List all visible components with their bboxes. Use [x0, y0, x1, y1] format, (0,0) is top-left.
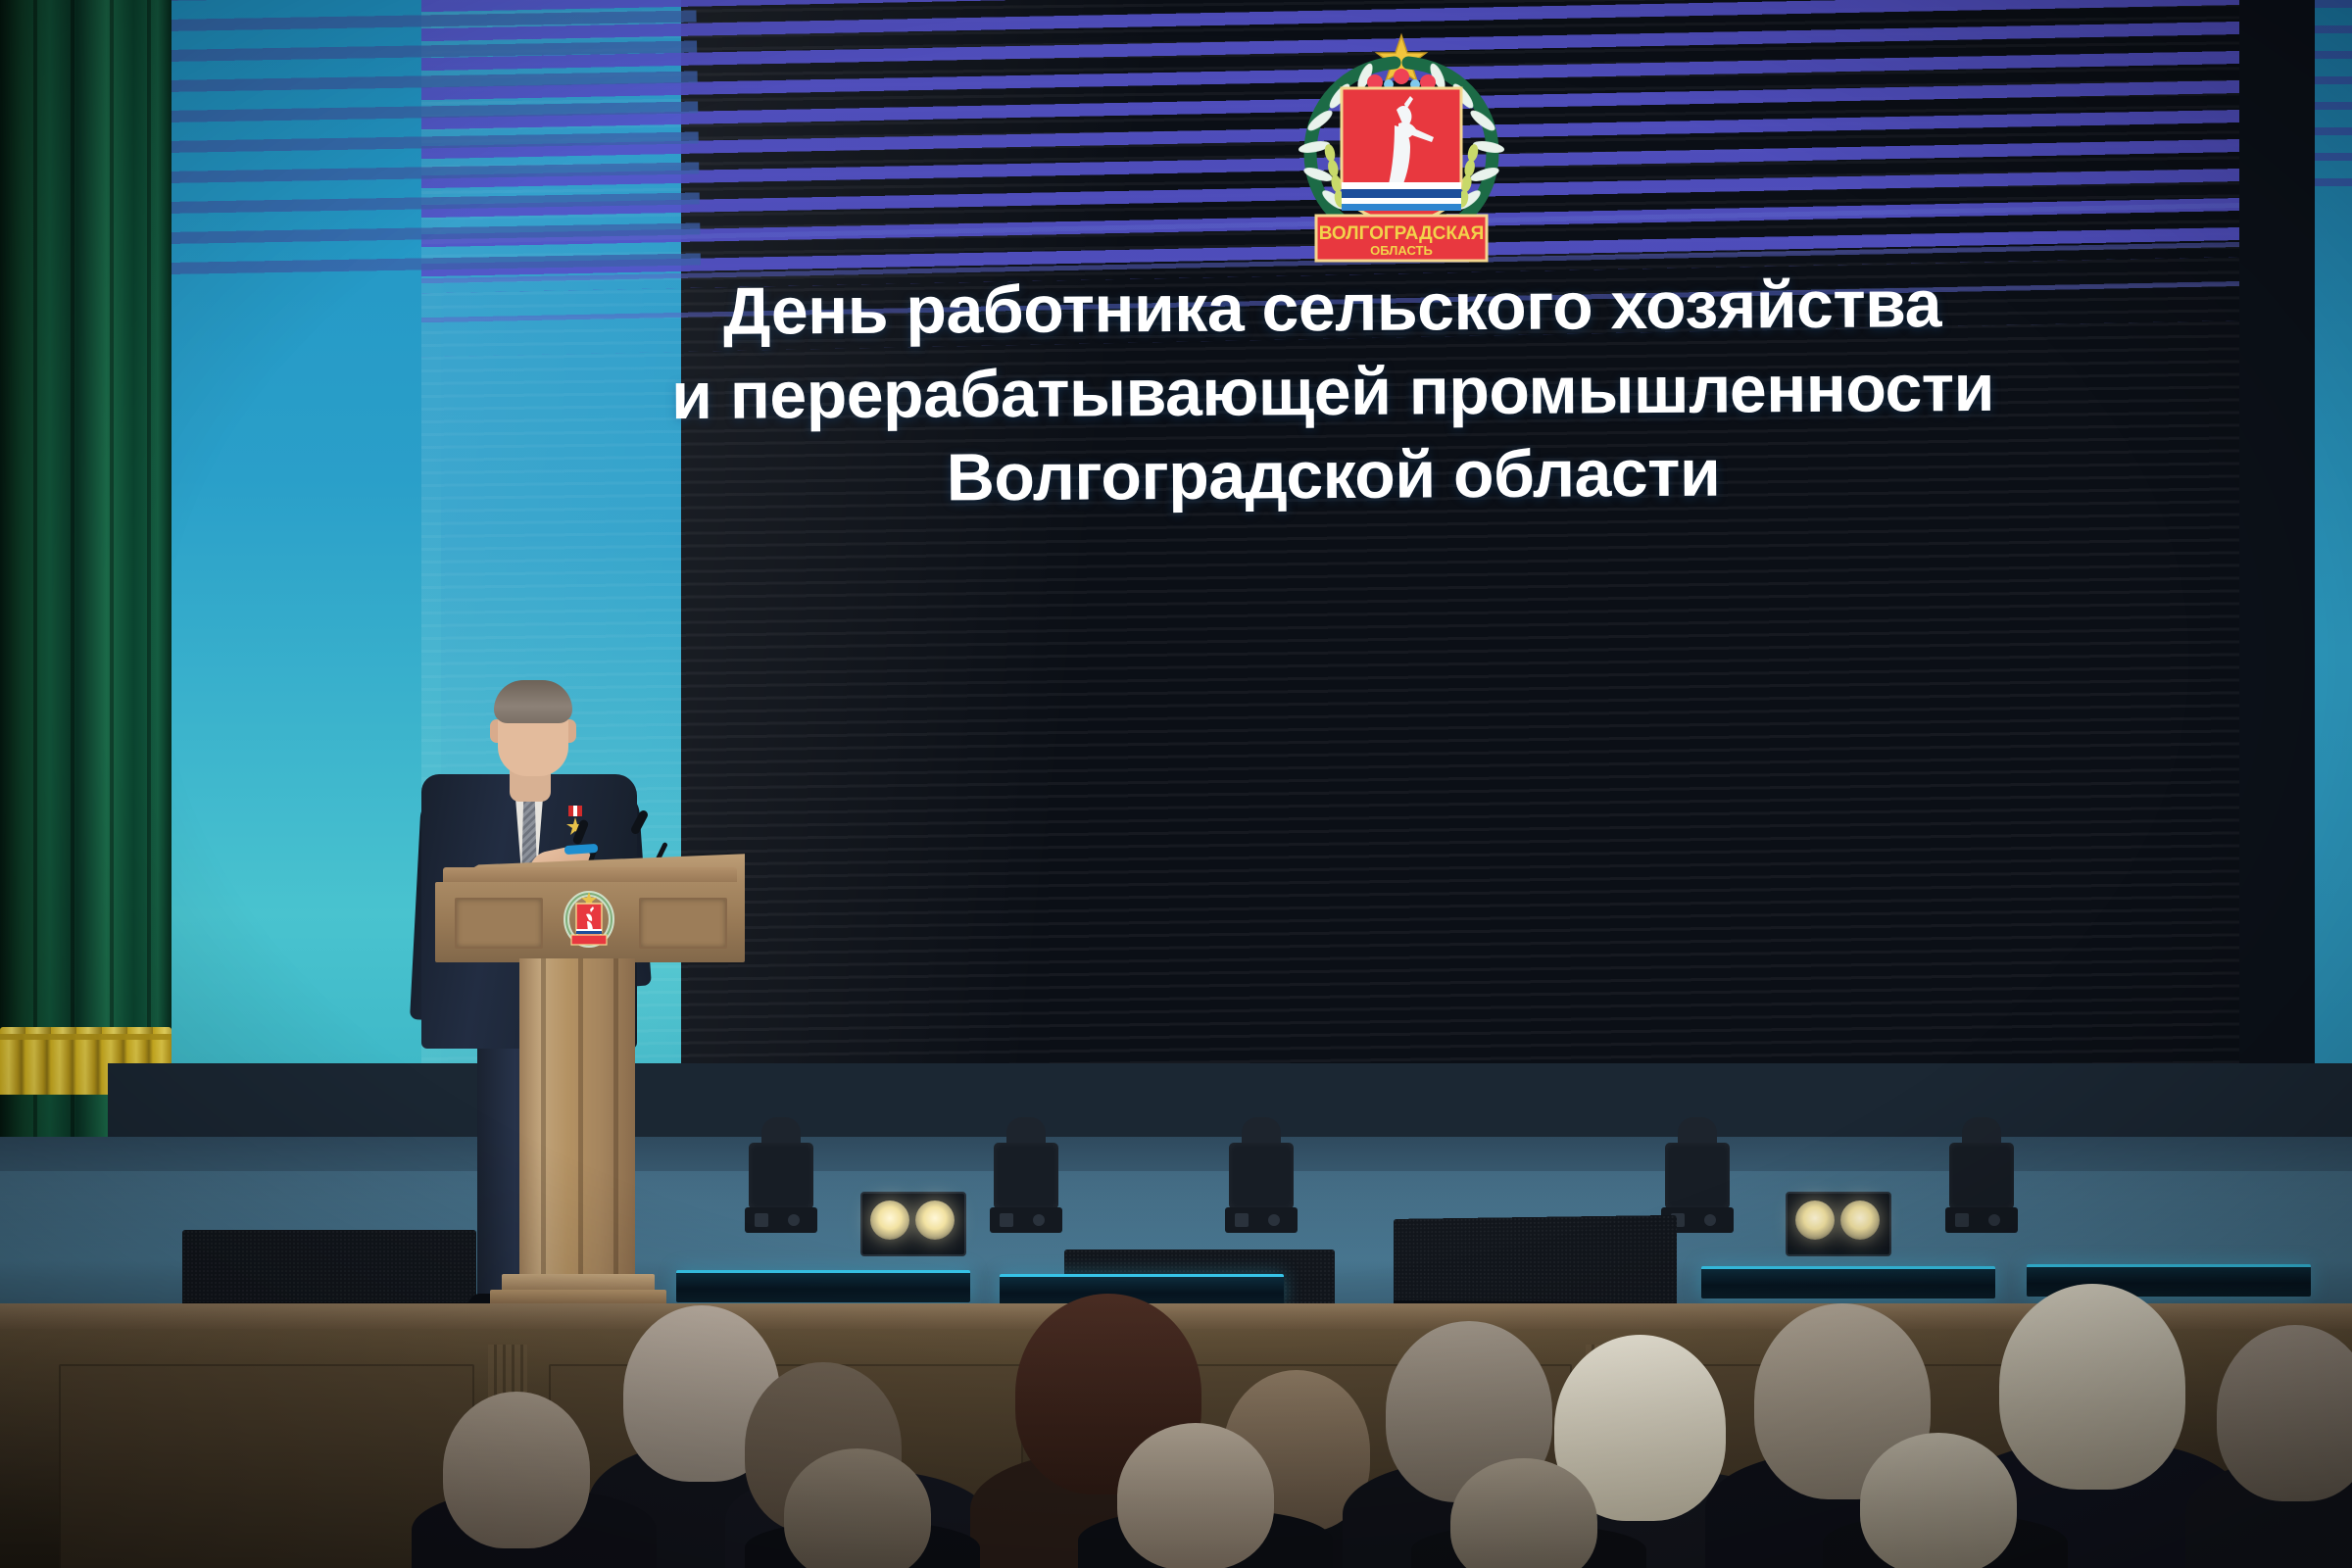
audience-head-8-grey [1999, 1284, 2185, 1490]
blinder-light-1 [860, 1192, 966, 1256]
audience-head-12 [1860, 1433, 2017, 1568]
screen-far-right-strip [2315, 0, 2352, 1088]
led-bar-3 [1701, 1266, 1995, 1298]
stage-photo: ВОЛГОГРАДСКАЯ ОБЛАСТЬ День работника сел… [0, 0, 2352, 1568]
moving-head-light-5 [1945, 1117, 2018, 1235]
screen-right-dark-column [2239, 0, 2318, 1102]
speaker-hair [494, 680, 572, 723]
lectern-coat-of-arms-icon [563, 890, 614, 951]
volgograd-oblast-coat-of-arms-icon: ВОЛГОГРАДСКАЯ ОБЛАСТЬ [1279, 27, 1524, 272]
audience-head-13 [784, 1448, 931, 1568]
emblem-banner-line2: ОБЛАСТЬ [1370, 243, 1433, 258]
emblem-banner-line1: ВОЛГОГРАДСКАЯ [1319, 223, 1485, 244]
lectern-panel-left [455, 898, 543, 949]
audience-head-10 [443, 1392, 590, 1548]
audience-head-11 [1117, 1423, 1274, 1568]
presentation-title: День работника сельского хозяйства и пер… [420, 261, 2245, 523]
blinder-light-2 [1786, 1192, 1891, 1256]
title-line-1: День работника сельского хозяйства [420, 261, 2243, 356]
title-line-3: Волгоградской области [421, 429, 2244, 524]
moving-head-light-1 [745, 1117, 817, 1235]
moving-head-light-2 [990, 1117, 1062, 1235]
lectern-column [519, 958, 635, 1292]
moving-head-light-3 [1225, 1117, 1298, 1235]
lectern-panel-right [639, 898, 727, 949]
screen-stripe-band-left [108, 0, 701, 284]
screen-far-right-stripes [2315, 0, 2352, 186]
title-line-2: и перерабатывающей промышленности [421, 345, 2244, 440]
led-bar-1 [676, 1270, 970, 1302]
